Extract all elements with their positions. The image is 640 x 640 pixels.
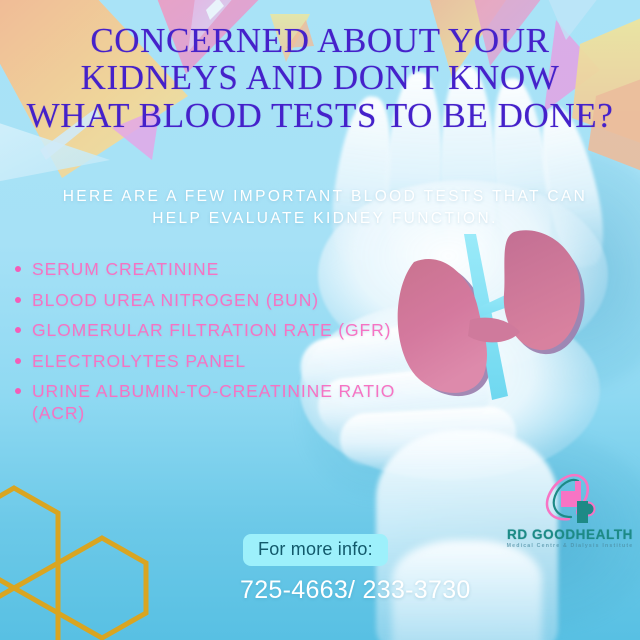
bullet-dot-icon <box>15 358 21 364</box>
list-item-label: GLOMERULAR FILTRATION RATE (GFR) <box>32 320 391 340</box>
list-item-label: SERUM CREATININE <box>32 259 219 279</box>
hexagon-1 <box>0 488 58 588</box>
blood-tests-list: SERUM CREATININE BLOOD UREA NITROGEN (BU… <box>10 258 430 433</box>
logo-tagline: Medical Centre & Dialysis Institute <box>505 543 635 549</box>
list-item: BLOOD UREA NITROGEN (BUN) <box>10 289 430 311</box>
logo-teal-bar <box>577 501 588 523</box>
page-title: CONCERNED ABOUT YOUR KIDNEYS AND DON'T K… <box>0 22 640 134</box>
list-item: URINE ALBUMIN-TO-CREATININE RATIO (ACR) <box>10 380 430 424</box>
list-item: SERUM CREATININE <box>10 258 430 280</box>
bullet-dot-icon <box>15 388 21 394</box>
bullet-dot-icon <box>15 266 21 272</box>
infographic-poster: CONCERNED ABOUT YOUR KIDNEYS AND DON'T K… <box>0 0 640 640</box>
honeycomb-decoration <box>0 480 164 640</box>
logo-mark <box>505 465 635 527</box>
hexagon-2 <box>58 538 146 638</box>
list-item-label: URINE ALBUMIN-TO-CREATININE RATIO (ACR) <box>32 381 395 423</box>
phone-number[interactable]: 725-4663/ 233-3730 <box>240 576 471 605</box>
list-item: GLOMERULAR FILTRATION RATE (GFR) <box>10 319 430 341</box>
hexagon-3 <box>0 588 58 640</box>
list-item-label: BLOOD UREA NITROGEN (BUN) <box>32 290 319 310</box>
more-info-badge: For more info: <box>243 534 388 566</box>
brand-logo: RD GOODHEALTH Medical Centre & Dialysis … <box>505 465 635 557</box>
list-item-label: ELECTROLYTES PANEL <box>32 351 246 371</box>
bullet-dot-icon <box>15 327 21 333</box>
page-subtitle: HERE ARE A FEW IMPORTANT BLOOD TESTS THA… <box>60 186 590 230</box>
logo-name: RD GOODHEALTH <box>505 527 635 542</box>
bullet-dot-icon <box>15 297 21 303</box>
list-item: ELECTROLYTES PANEL <box>10 350 430 372</box>
